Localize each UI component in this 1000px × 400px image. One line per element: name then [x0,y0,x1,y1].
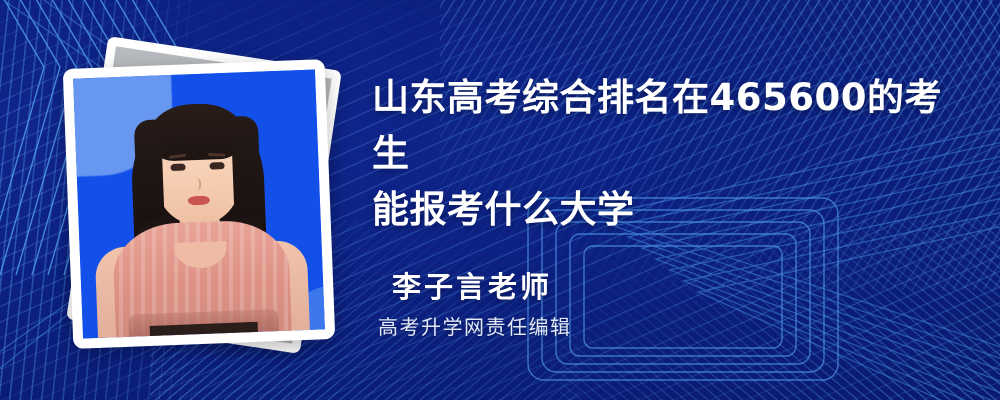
author-portrait [73,69,325,338]
portrait-eye-left [170,163,185,171]
author-name: 李子言老师 [392,268,572,306]
banner-text-column: 山东高考综合排名在465600的考生 能报考什么大学 李子言老师 高考升学网责任… [372,0,984,400]
banner-headline: 山东高考综合排名在465600的考生 能报考什么大学 [372,70,972,238]
author-byline: 李子言老师 高考升学网责任编辑 [392,268,572,340]
headline-line-1: 山东高考综合排名在465600的考生 [372,70,972,182]
author-photo-card [63,59,336,349]
portrait-eye-right [209,162,224,170]
article-hero-banner: 山东高考综合排名在465600的考生 能报考什么大学 李子言老师 高考升学网责任… [0,0,1000,400]
author-photo-cluster [52,46,352,356]
headline-line-2: 能报考什么大学 [372,182,972,238]
author-role: 高考升学网责任编辑 [378,314,572,340]
